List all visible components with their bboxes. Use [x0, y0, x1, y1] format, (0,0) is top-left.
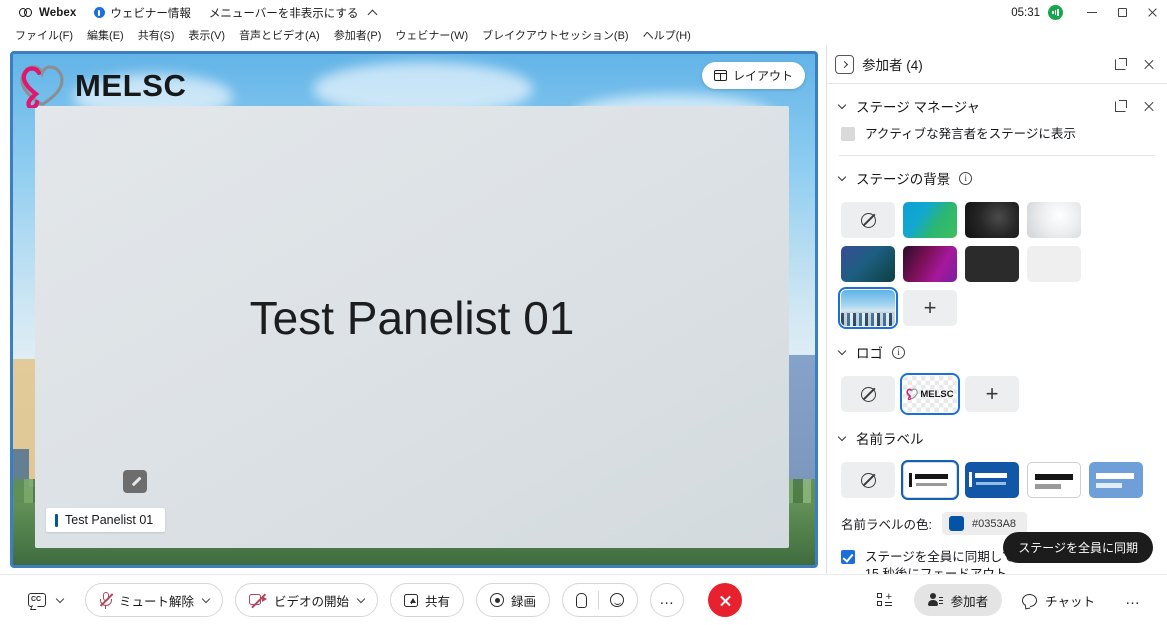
- reactions-group: [562, 583, 638, 617]
- close-icon[interactable]: [1143, 100, 1155, 112]
- stage-name-label-text: Test Panelist 01: [65, 513, 153, 527]
- toolbar-left-group: ミュート解除 ビデオの開始 共有 録画: [0, 583, 742, 617]
- name-label-styles: [827, 454, 1167, 502]
- layout-grid-icon: [714, 70, 727, 81]
- menu-breakout[interactable]: ブレイクアウトセッション(B): [475, 27, 635, 43]
- chevron-down-icon: [838, 100, 846, 108]
- logo-add-button[interactable]: +: [965, 376, 1019, 412]
- chevron-down-icon: [838, 346, 846, 354]
- chevron-down-icon[interactable]: [202, 594, 210, 602]
- name-label-style-soft-blue[interactable]: [1089, 462, 1143, 498]
- webex-logo-icon: [19, 7, 34, 18]
- pencil-icon: [130, 476, 141, 487]
- invite-people-icon: +: [877, 593, 894, 608]
- menu-webinar[interactable]: ウェビナー(W): [388, 27, 475, 43]
- no-background-icon: [861, 213, 876, 228]
- more-options-button[interactable]: …: [650, 583, 684, 617]
- info-circle-icon: [94, 7, 105, 18]
- background-swatch-white[interactable]: [1027, 246, 1081, 282]
- hide-menubar-button[interactable]: メニューバーを非表示にする: [200, 0, 386, 25]
- stage-manager-title: ステージ マネージャ: [856, 96, 980, 116]
- emoji-reaction-icon[interactable]: [610, 593, 624, 607]
- background-swatch-city-skyline-photo[interactable]: [841, 290, 895, 326]
- chevron-right-icon: [840, 60, 847, 67]
- panelist-display-name: Test Panelist 01: [250, 291, 575, 345]
- network-quality-icon[interactable]: [1048, 5, 1063, 20]
- info-icon[interactable]: i: [959, 172, 972, 185]
- share-button[interactable]: 共有: [390, 583, 464, 617]
- hide-menubar-label: メニューバーを非表示にする: [209, 5, 359, 21]
- stage-area: MELSC レイアウト Test Panelist 01 Test Paneli…: [0, 45, 826, 574]
- app-name-label: Webex: [39, 7, 76, 19]
- background-swatch-none[interactable]: [841, 202, 895, 238]
- layout-button-label: レイアウト: [733, 67, 793, 84]
- webex-window: Webex ウェビナー情報 メニューバーを非表示にする 05:31 ファイル(F…: [0, 0, 1167, 625]
- popout-icon[interactable]: [1115, 58, 1127, 70]
- closed-caption-icon: [28, 593, 46, 607]
- popout-icon[interactable]: [1115, 100, 1127, 112]
- title-bar-left: Webex ウェビナー情報 メニューバーを非表示にする: [0, 0, 385, 25]
- chat-button-label: チャット: [1045, 591, 1095, 610]
- microphone-muted-icon: [99, 592, 112, 609]
- menu-edit[interactable]: 編集(E): [80, 27, 131, 43]
- melsc-mini-logo: MELSC: [906, 388, 953, 400]
- mute-button-label: ミュート解除: [119, 591, 194, 610]
- webex-app-title: Webex: [10, 0, 85, 25]
- layout-button[interactable]: レイアウト: [702, 62, 805, 89]
- captions-button[interactable]: [28, 593, 63, 607]
- logo-title: ロゴ: [856, 342, 883, 362]
- chevron-down-icon[interactable]: [357, 594, 365, 602]
- melsc-mini-logo-text: MELSC: [920, 389, 953, 400]
- active-speaker-checkbox[interactable]: [841, 127, 855, 141]
- stage-background-title: ステージの背景: [856, 168, 950, 188]
- ellipsis-icon: …: [1125, 596, 1141, 604]
- panel-more-button[interactable]: …: [1115, 584, 1151, 616]
- background-swatch-black[interactable]: [965, 246, 1019, 282]
- close-icon[interactable]: [1143, 58, 1155, 70]
- participants-button[interactable]: 参加者: [914, 584, 1003, 616]
- toolbar-right-group: + 参加者 チャット …: [863, 584, 1167, 616]
- melsc-brand-label: MELSC: [75, 68, 187, 104]
- chevron-down-icon[interactable]: [56, 594, 64, 602]
- name-label-title: 名前ラベル: [856, 428, 924, 448]
- no-name-label-icon: [861, 473, 876, 488]
- background-swatch-dark-gradient[interactable]: [965, 202, 1019, 238]
- share-button-label: 共有: [425, 591, 450, 610]
- participants-panel: 参加者 (4) ステージ マネージャ アクティブな発言者をステージに表示 ステー…: [826, 45, 1167, 574]
- webinar-info-button[interactable]: ウェビナー情報: [85, 0, 200, 25]
- chevron-up-icon: [368, 10, 378, 20]
- chat-button[interactable]: チャット: [1008, 584, 1109, 616]
- panelist-video-tile[interactable]: Test Panelist 01: [35, 106, 789, 548]
- stage-background-swatches: +: [827, 194, 1147, 330]
- color-hex-value: #0353A8: [972, 518, 1016, 530]
- sync-stage-button[interactable]: ステージを全員に同期: [1003, 532, 1153, 563]
- background-swatch-navy-teal-gradient[interactable]: [841, 246, 895, 282]
- window-close-button[interactable]: [1137, 0, 1167, 25]
- melsc-heart-icon: [19, 64, 65, 108]
- edit-name-label-button[interactable]: [123, 470, 147, 493]
- record-button[interactable]: 録画: [476, 583, 550, 617]
- participants-icon: [928, 593, 943, 607]
- chevron-down-icon: [838, 432, 846, 440]
- participants-button-label: 参加者: [951, 591, 989, 610]
- name-label-style-outline-light[interactable]: [1027, 462, 1081, 498]
- raise-hand-icon[interactable]: [576, 593, 587, 608]
- stage-background-header[interactable]: ステージの背景 i: [827, 156, 1167, 194]
- participants-panel-title: 参加者 (4): [862, 54, 923, 74]
- title-bar: Webex ウェビナー情報 メニューバーを非表示にする 05:31: [0, 0, 1167, 25]
- close-icon: [719, 594, 732, 607]
- info-icon[interactable]: i: [892, 346, 905, 359]
- active-speaker-checkbox-row[interactable]: アクティブな発言者をステージに表示: [827, 122, 1167, 153]
- fade-out-checkbox[interactable]: [841, 550, 855, 564]
- menu-share[interactable]: 共有(S): [131, 27, 182, 43]
- divider: [598, 591, 599, 609]
- chat-bubble-icon: [1022, 594, 1037, 607]
- menu-file[interactable]: ファイル(F): [8, 27, 80, 43]
- participants-panel-actions: [1115, 58, 1155, 70]
- background-add-button[interactable]: +: [903, 290, 957, 326]
- name-label-style-accent-bar-light[interactable]: [903, 462, 957, 498]
- name-label-style-solid-blue[interactable]: [965, 462, 1019, 498]
- window-maximize-button[interactable]: [1107, 0, 1137, 25]
- stage-manager-actions: [1115, 100, 1155, 112]
- name-label-header[interactable]: 名前ラベル: [827, 416, 1167, 454]
- collapse-panel-button[interactable]: [835, 55, 854, 74]
- video-button-label: ビデオの開始: [274, 591, 349, 610]
- stage-canvas: MELSC レイアウト Test Panelist 01 Test Paneli…: [10, 51, 818, 568]
- logo-header[interactable]: ロゴ i: [827, 330, 1167, 368]
- record-icon: [490, 593, 504, 607]
- chevron-down-icon: [838, 172, 846, 180]
- webinar-info-label: ウェビナー情報: [110, 5, 191, 21]
- end-meeting-button[interactable]: [708, 583, 742, 617]
- record-button-label: 録画: [511, 591, 536, 610]
- logo-options: MELSC +: [827, 368, 1167, 416]
- stage-manager-header[interactable]: ステージ マネージャ: [827, 84, 1167, 122]
- background-swatch-light-gray-gradient[interactable]: [1027, 202, 1081, 238]
- title-bar-right: 05:31: [1011, 0, 1167, 25]
- name-label-style-none[interactable]: [841, 462, 895, 498]
- stage-name-label: Test Panelist 01: [46, 508, 165, 532]
- invite-participants-button[interactable]: +: [863, 584, 908, 616]
- mute-button[interactable]: ミュート解除: [85, 583, 223, 617]
- bottom-toolbar: ミュート解除 ビデオの開始 共有 録画: [0, 574, 1167, 625]
- window-minimize-button[interactable]: [1077, 0, 1107, 25]
- camera-off-icon: [249, 594, 267, 607]
- menu-view[interactable]: 表示(V): [181, 27, 232, 43]
- video-button[interactable]: ビデオの開始: [235, 583, 378, 617]
- name-label-color-label: 名前ラベルの色:: [841, 514, 932, 533]
- menu-bar: ファイル(F) 編集(E) 共有(S) 表示(V) 音声とビデオ(A) 参加者(…: [0, 25, 1167, 45]
- logo-option-melsc[interactable]: MELSC: [903, 376, 957, 412]
- color-swatch: [949, 516, 964, 531]
- ellipsis-icon: …: [659, 596, 675, 604]
- logo-option-none[interactable]: [841, 376, 895, 412]
- stage-logo: MELSC: [19, 64, 187, 108]
- active-speaker-checkbox-label: アクティブな発言者をステージに表示: [865, 126, 1076, 143]
- background-swatch-magenta-purple-gradient[interactable]: [903, 246, 957, 282]
- no-logo-icon: [861, 387, 876, 402]
- share-screen-icon: [404, 594, 418, 607]
- background-swatch-teal-green-gradient[interactable]: [903, 202, 957, 238]
- participants-panel-header: 参加者 (4): [827, 45, 1167, 83]
- menu-audio-video[interactable]: 音声とビデオ(A): [232, 27, 327, 43]
- menu-help[interactable]: ヘルプ(H): [636, 27, 698, 43]
- clock-label: 05:31: [1011, 7, 1040, 19]
- menu-participant[interactable]: 参加者(P): [327, 27, 389, 43]
